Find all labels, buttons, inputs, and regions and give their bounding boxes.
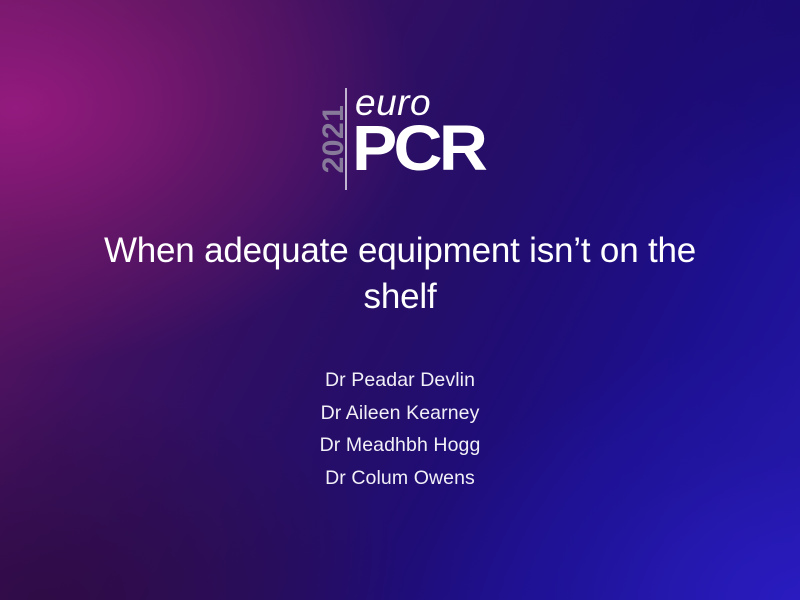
- author-name: Dr Aileen Kearney: [150, 397, 650, 430]
- title-line-1: When adequate equipment isn’t on the: [104, 231, 696, 270]
- europcr-logo: 2021 euro PCR: [300, 86, 500, 200]
- author-name: Dr Peadar Devlin: [150, 364, 650, 397]
- author-name: Dr Meadhbh Hogg: [150, 429, 650, 462]
- author-name: Dr Colum Owens: [150, 462, 650, 495]
- slide-title: When adequate equipment isn’t on the she…: [70, 228, 730, 319]
- presentation-slide: 2021 euro PCR When adequate equipment is…: [0, 0, 800, 600]
- title-line-2: shelf: [364, 277, 437, 316]
- author-list: Dr Peadar Devlin Dr Aileen Kearney Dr Me…: [150, 364, 650, 494]
- logo-pcr-wordmark: PCR: [352, 116, 484, 180]
- logo-divider: [345, 88, 347, 190]
